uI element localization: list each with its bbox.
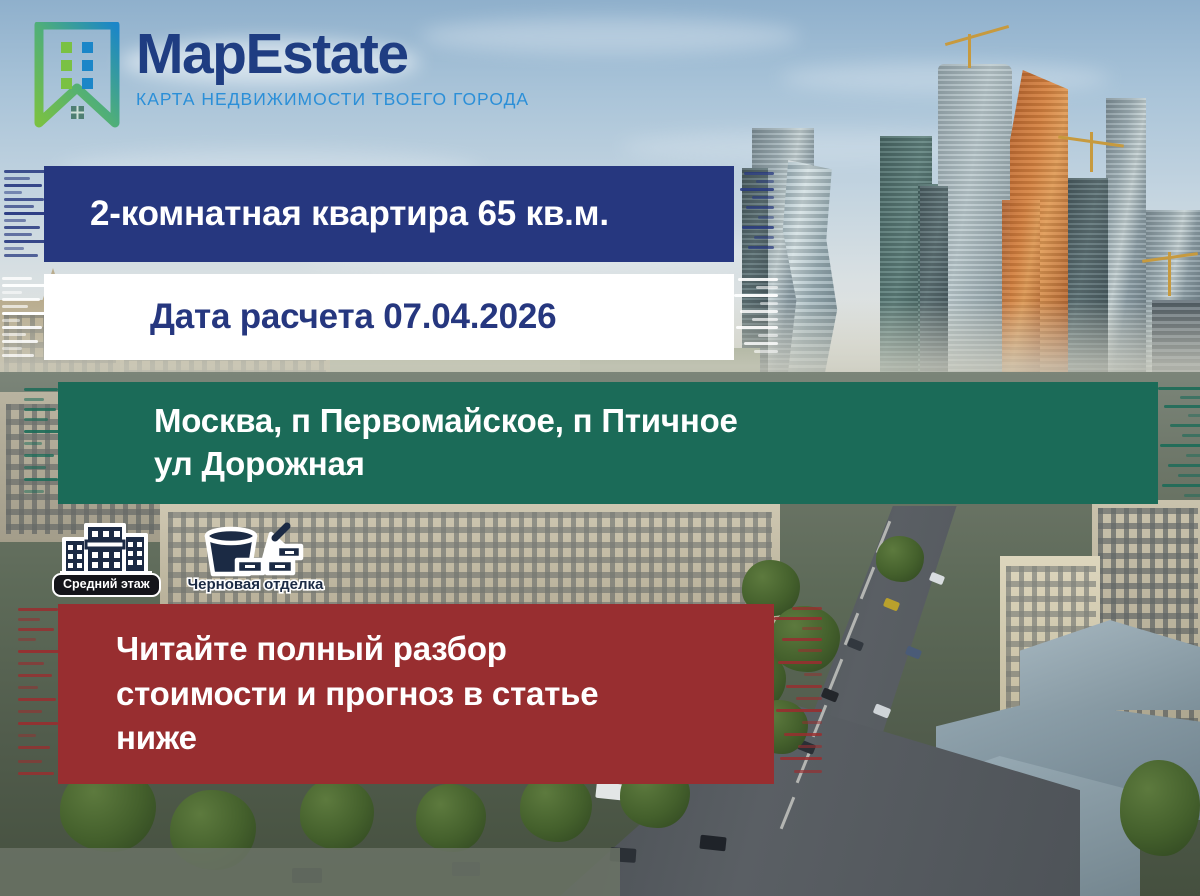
brand-tagline: КАРТА НЕДВИЖИМОСТИ ТВОЕГО ГОРОДА bbox=[136, 89, 529, 110]
paint-bucket-trowel-bricks-icon bbox=[199, 518, 311, 580]
tree bbox=[300, 778, 374, 850]
cta-line-2: стоимости и прогноз в статье bbox=[116, 675, 598, 714]
brand-name: MapEstate bbox=[136, 26, 529, 83]
tree bbox=[876, 536, 924, 582]
cta-line-3: ниже bbox=[116, 719, 598, 758]
cta-line-1: Читайте полный разбор bbox=[116, 630, 598, 669]
crane-mast bbox=[1090, 132, 1093, 172]
address-banner: Москва, п Первомайское, п Птичное ул Дор… bbox=[58, 382, 1158, 504]
title-banner: 2-комнатная квартира 65 кв.м. bbox=[44, 166, 734, 262]
plaza-pavement bbox=[0, 848, 620, 896]
date-banner: Дата расчета 07.04.2026 bbox=[44, 274, 734, 360]
tree bbox=[1120, 760, 1200, 856]
feature-badge-finish: Черновая отделка bbox=[179, 518, 333, 597]
feature-badge-finish-label: Черновая отделка bbox=[179, 574, 333, 597]
car bbox=[699, 835, 726, 852]
address-line-2: ул Дорожная bbox=[154, 445, 738, 484]
address-line-1: Москва, п Первомайское, п Птичное bbox=[154, 402, 738, 441]
apartment-building-icon bbox=[60, 521, 152, 579]
feature-badge-floor-label: Средний этаж bbox=[52, 573, 161, 597]
feature-badge-floor: Средний этаж bbox=[52, 521, 161, 597]
promo-poster: MapEstate КАРТА НЕДВИЖИМОСТИ ТВОЕГО ГОРО… bbox=[0, 0, 1200, 896]
cta-banner: Читайте полный разбор стоимости и прогно… bbox=[58, 604, 774, 784]
feature-badges: Средний этаж Черновая о bbox=[52, 518, 332, 597]
brand-logo[interactable]: MapEstate КАРТА НЕДВИЖИМОСТИ ТВОЕГО ГОРО… bbox=[34, 22, 529, 128]
date-banner-text: Дата расчета 07.04.2026 bbox=[150, 296, 556, 337]
title-banner-text: 2-комнатная квартира 65 кв.м. bbox=[90, 193, 609, 234]
tree bbox=[416, 784, 486, 852]
bookmark-building-icon bbox=[34, 22, 120, 128]
